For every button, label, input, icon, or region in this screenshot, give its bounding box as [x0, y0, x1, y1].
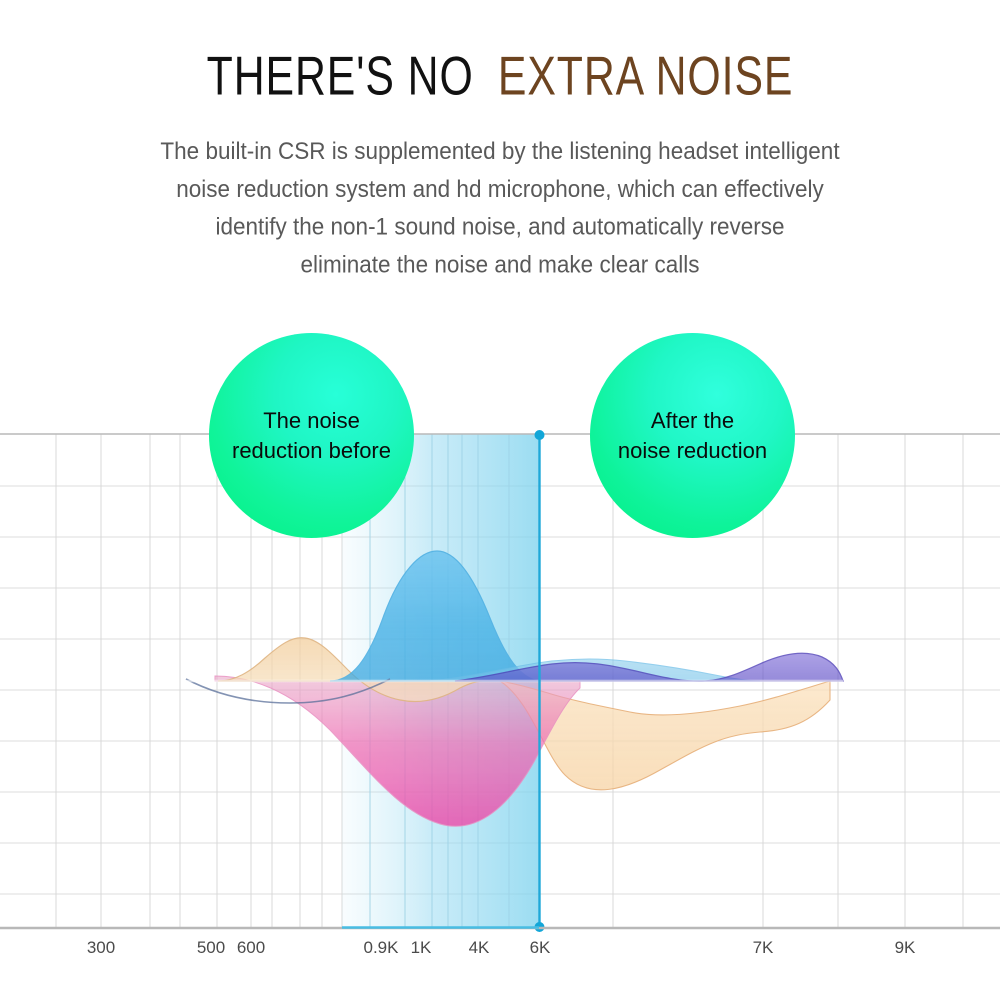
bubble-before-line-1: The noise [232, 406, 391, 436]
marker-dot-top [535, 430, 545, 440]
title-part-2: EXTRA NOISE [498, 45, 794, 106]
bubble-after-line-2: noise reduction [618, 436, 767, 466]
subtitle-line-1: The built-in CSR is supplemented by the … [50, 132, 950, 170]
subtitle-line-4: eliminate the noise and make clear calls [50, 245, 950, 283]
noise-reduction-infographic: THERE'S NOEXTRA NOISE The built-in CSR i… [0, 0, 1000, 1000]
header: THERE'S NOEXTRA NOISE The built-in CSR i… [0, 0, 1000, 272]
x-tick-4K: 4K [469, 938, 490, 958]
bubble-before-line-2: reduction before [232, 436, 391, 466]
subtitle: The built-in CSR is supplemented by the … [50, 132, 950, 283]
bubble-after-noise-reduction: After the noise reduction [590, 333, 795, 538]
subtitle-line-3: identify the non-1 sound noise, and auto… [50, 208, 950, 246]
x-tick-9K: 9K [895, 938, 916, 958]
bubble-after-line-1: After the [618, 406, 767, 436]
page-title: THERE'S NOEXTRA NOISE [35, 44, 965, 108]
x-tick-300: 300 [87, 938, 115, 958]
title-part-1: THERE'S NO [207, 45, 474, 106]
x-tick-600: 600 [237, 938, 265, 958]
x-tick-500: 500 [197, 938, 225, 958]
x-tick-0.9K: 0.9K [364, 938, 399, 958]
subtitle-line-2: noise reduction system and hd microphone… [50, 170, 950, 208]
x-tick-1K: 1K [411, 938, 432, 958]
bubble-before-noise-reduction: The noise reduction before [209, 333, 414, 538]
x-tick-6K: 6K [530, 938, 551, 958]
x-tick-7K: 7K [753, 938, 774, 958]
